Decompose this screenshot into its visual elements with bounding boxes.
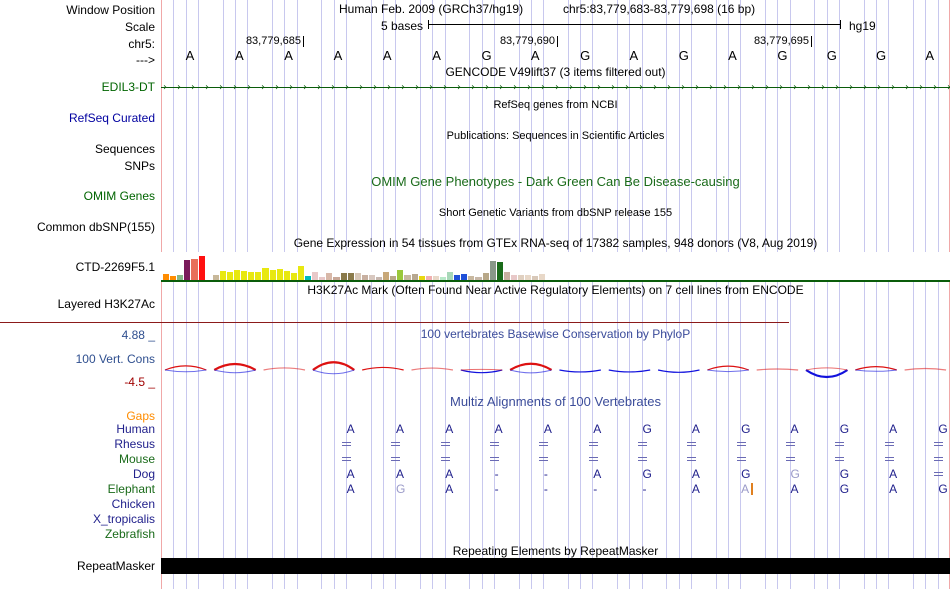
gtex-tissue-bar[interactable] [376, 277, 382, 280]
gtex-tissue-bar[interactable] [291, 273, 297, 280]
gene-strand-arrow-icon: › [891, 83, 895, 92]
phylop-base-arc [461, 370, 502, 373]
alignment-match-mark [737, 442, 746, 447]
gene-strand-arrow-icon: › [471, 83, 475, 92]
phylop-base-arc [757, 369, 798, 370]
phylop-base-arc-mirror [461, 369, 502, 370]
phylop-base-arc [806, 370, 847, 377]
phylop-base-arc [313, 362, 354, 370]
label-scale: Scale [125, 21, 155, 33]
gene-strand-arrow-icon: › [415, 83, 419, 92]
gene-strand-arrow-icon: › [751, 83, 755, 92]
gene-strand-arrow-icon: › [765, 83, 769, 92]
gtex-tissue-bar[interactable] [284, 271, 290, 280]
gtex-tissue-bar[interactable] [262, 268, 268, 280]
gtex-tissue-bar[interactable] [355, 273, 361, 280]
gtex-tissue-bar[interactable] [270, 270, 276, 280]
alignment-match-mark [638, 457, 647, 462]
alignment-row-zebrafish[interactable] [322, 527, 950, 542]
alignment-match-mark [638, 442, 647, 447]
track-title-publications[interactable]: Publications: Sequences in Scientific Ar… [161, 130, 950, 142]
species-label-human[interactable]: Human [116, 423, 155, 435]
gene-strand-arrow-icon: › [653, 83, 657, 92]
alignment-match-mark [441, 457, 450, 462]
species-label-x_tropicalis[interactable]: X_tropicalis [93, 513, 155, 525]
gene-strand-arrow-icon: › [289, 83, 293, 92]
gene-strand-arrow-icon: › [793, 83, 797, 92]
track-label-column: Window Position Scale chr5: ---> EDIL3-D… [0, 0, 155, 589]
gene-strand-arrow-icon: › [373, 83, 377, 92]
gtex-tissue-bar[interactable] [511, 275, 517, 280]
assembly-name: Human Feb. 2009 (GRCh37/hg19) [339, 2, 523, 16]
gene-strand-arrow-icon: › [779, 83, 783, 92]
gtex-tissue-bar[interactable] [419, 276, 425, 280]
alignment-match-mark [786, 457, 795, 462]
gene-strand-arrow-icon: › [527, 83, 531, 92]
gtex-tissue-bar[interactable] [341, 273, 347, 280]
alignment-row-chicken[interactable] [322, 497, 950, 512]
alignment-match-mark [441, 442, 450, 447]
phylop-base-arc-mirror [707, 370, 748, 372]
label-gaps: Gaps [126, 410, 155, 422]
gene-strand-arrow-icon: › [303, 83, 307, 92]
alignment-match-mark [342, 442, 351, 447]
alignment-match-mark [490, 457, 499, 462]
phylop-base-arc [165, 366, 206, 370]
gtex-tissue-bar[interactable] [518, 275, 524, 280]
gtex-tissue-bar[interactable] [454, 275, 460, 280]
alignment-match-mark [391, 457, 400, 462]
gene-strand-arrow-icon: › [933, 83, 937, 92]
alignment-match-mark [934, 457, 943, 462]
scale-bar-row: 5 bases hg19 [161, 19, 950, 33]
gtex-tissue-bar[interactable] [170, 276, 176, 280]
alignment-match-mark [687, 457, 696, 462]
label-100-vert-cons[interactable]: 100 Vert. Cons [76, 353, 155, 365]
alignment-match-mark [835, 457, 844, 462]
gene-strand-arrow-icon: › [695, 83, 699, 92]
gene-strand-arrow-icon: › [275, 83, 279, 92]
gtex-tissue-bar[interactable] [319, 277, 325, 280]
coordinate-label: 83,779,690 [500, 35, 555, 47]
gene-strand-arrow-icon: › [317, 83, 321, 92]
phylop-conservation-plot[interactable] [161, 340, 950, 390]
label-cons-max: 4.88 _ [122, 329, 155, 341]
alignment-match-mark [737, 457, 746, 462]
gene-strand-arrow-icon: › [499, 83, 503, 92]
gene-strand-arrow-icon: › [667, 83, 671, 92]
gene-strand-arrow-icon: › [233, 83, 237, 92]
alignment-row-mouse[interactable] [322, 452, 950, 467]
gene-strand-arrow-icon: › [513, 83, 517, 92]
gtex-tissue-bar[interactable] [220, 271, 226, 280]
gene-strand-arrow-icon: › [443, 83, 447, 92]
gene-strand-arrow-icon: › [905, 83, 909, 92]
gene-strand-arrow-icon: › [429, 83, 433, 92]
gtex-tissue-bar[interactable] [184, 260, 190, 280]
gene-strand-arrow-icon: › [387, 83, 391, 92]
track-title-omim[interactable]: OMIM Gene Phenotypes - Dark Green Can Be… [161, 176, 950, 188]
gtex-tissue-bar[interactable] [241, 271, 247, 280]
gene-strand-arrow-icon: › [877, 83, 881, 92]
window-position-bar: Human Feb. 2009 (GRCh37/hg19) chr5:83,77… [161, 2, 950, 16]
alignment-insert-marker [751, 483, 753, 495]
gene-strand-arrow-icon: › [625, 83, 629, 92]
gtex-tissue-bar[interactable] [483, 273, 489, 280]
gtex-tissue-bar[interactable] [191, 259, 197, 280]
phylop-base-arc-mirror [510, 370, 551, 373]
gencode-gene-track[interactable]: ››››››››››››››››››››››››››››››››››››››››… [161, 82, 950, 93]
phylop-base-arc [905, 368, 946, 370]
species-label-zebrafish[interactable]: Zebrafish [105, 528, 155, 540]
track-title-h3k27ac[interactable]: H3K27Ac Mark (Often Found Near Active Re… [161, 284, 950, 296]
gtex-tissue-bar[interactable] [333, 277, 339, 280]
gtex-tissue-bar[interactable] [390, 276, 396, 280]
gene-strand-arrow-icon: › [681, 83, 685, 92]
gene-strand-arrow-icon: › [219, 83, 223, 92]
gtex-tissue-bar[interactable] [277, 269, 283, 280]
label-sequences[interactable]: Sequences [95, 143, 155, 155]
gtex-tissue-bar[interactable] [539, 274, 545, 280]
species-label-elephant[interactable]: Elephant [108, 483, 155, 495]
label-common-dbsnp[interactable]: Common dbSNP(155) [37, 221, 155, 233]
scale-ruler [428, 20, 841, 29]
coordinate-tick [303, 36, 304, 47]
gene-strand-arrow-icon: › [163, 83, 167, 92]
alignment-match-mark [885, 457, 894, 462]
ucsc-genome-browser: Window Position Scale chr5: ---> EDIL3-D… [0, 0, 950, 589]
gene-strand-arrow-icon: › [485, 83, 489, 92]
gtex-tissue-bar[interactable] [298, 266, 304, 280]
phylop-base-arc-mirror [165, 370, 206, 372]
conservation-top-rule [0, 322, 789, 323]
gtex-tissue-bar[interactable] [305, 276, 311, 280]
gtex-tissue-bar[interactable] [362, 275, 368, 280]
gene-strand-arrow-icon: › [737, 83, 741, 92]
gtex-tissue-bar[interactable] [525, 275, 531, 280]
gtex-tissue-bar[interactable] [248, 272, 254, 280]
alignment-row-dog[interactable]: AAA--AGAGGGAAA [322, 467, 950, 482]
label-gtex-gene[interactable]: CTD-2269F5.1 [76, 261, 155, 273]
gtex-tissue-bar[interactable] [497, 262, 503, 280]
phylop-base-arc-mirror [855, 370, 896, 371]
gtex-tissue-bar[interactable] [490, 261, 496, 280]
track-title-repeatmasker[interactable]: Repeating Elements by RepeatMasker [161, 545, 950, 557]
species-label-chicken[interactable]: Chicken [112, 498, 155, 510]
gtex-tissue-bar[interactable] [447, 272, 453, 280]
alignment-match-mark [885, 442, 894, 447]
gene-strand-arrow-icon: › [177, 83, 181, 92]
gtex-tissue-bar[interactable] [383, 272, 389, 280]
alignment-match-mark [934, 472, 943, 477]
gtex-tissue-bar[interactable] [312, 272, 318, 280]
coordinate-tick [557, 36, 558, 47]
gtex-tissue-bar[interactable] [412, 274, 418, 280]
phylop-base-arc-mirror [214, 370, 255, 373]
gene-strand-arrow-icon: › [919, 83, 923, 92]
gene-strand-arrow-icon: › [597, 83, 601, 92]
scale-assembly-label: hg19 [849, 19, 876, 33]
phylop-base-arc [510, 364, 551, 370]
gtex-tissue-bar[interactable] [227, 272, 233, 280]
label-window-position: Window Position [66, 4, 155, 16]
gtex-tissue-bar[interactable] [326, 273, 332, 280]
gene-strand-arrow-icon: › [541, 83, 545, 92]
gene-strand-arrow-icon: › [331, 83, 335, 92]
gtex-tissue-bar[interactable] [475, 277, 481, 280]
label-snps[interactable]: SNPs [124, 160, 155, 172]
gtex-tissue-bar[interactable] [504, 272, 510, 280]
alignment-match-mark [934, 442, 943, 447]
gene-strand-arrow-icon: › [723, 83, 727, 92]
alignment-row-elephant[interactable]: AGA----AAAGAGGAA [322, 482, 950, 497]
gtex-tissue-bar[interactable] [426, 276, 432, 280]
phylop-base-arc [658, 370, 699, 372]
track-title-gtex[interactable]: Gene Expression in 54 tissues from GTEx … [161, 237, 950, 249]
gene-strand-arrow-icon: › [345, 83, 349, 92]
gene-strand-arrow-icon: › [555, 83, 559, 92]
gtex-tissue-bar[interactable] [369, 275, 375, 280]
alignment-match-mark [589, 442, 598, 447]
alignment-match-mark [490, 442, 499, 447]
alignment-match-mark [539, 457, 548, 462]
gene-strand-arrow-icon: › [457, 83, 461, 92]
gene-strand-arrow-icon: › [821, 83, 825, 92]
label-omim-genes[interactable]: OMIM Genes [84, 190, 155, 202]
phylop-base-arc [412, 368, 453, 370]
gtex-tissue-bar[interactable] [177, 275, 183, 280]
phylop-base-arc [362, 367, 403, 370]
alignment-match-mark [687, 442, 696, 447]
gtex-tissue-bar[interactable] [234, 270, 240, 280]
gtex-tissue-bar[interactable] [433, 276, 439, 280]
gtex-tissue-bar[interactable] [468, 276, 474, 280]
alignment-row-human[interactable]: AAAAAAGAGAGAGGGA [322, 422, 950, 437]
phylop-base-arc-mirror [313, 370, 354, 374]
alignment-match-mark [342, 457, 351, 462]
gtex-tissue-bar[interactable] [255, 272, 261, 280]
label-strand-arrow: ---> [136, 54, 155, 66]
multiz-alignment-block[interactable]: AAAAAAGAGAGAGGGAAAA--AGAGGGAAAAGA----AAA… [161, 422, 950, 542]
alignment-match-mark [835, 442, 844, 447]
gene-strand-arrow-icon: › [205, 83, 209, 92]
repeatmasker-bar[interactable] [161, 558, 950, 574]
gtex-tissue-bar[interactable] [348, 273, 354, 280]
gtex-tissue-bar[interactable] [532, 276, 538, 280]
position-range: chr5:83,779,683-83,779,698 (16 bp) [563, 2, 755, 16]
alignment-row-x_tropicalis[interactable] [322, 512, 950, 527]
gene-strand-arrow-icon: › [191, 83, 195, 92]
gene-strand-arrow-icon: › [835, 83, 839, 92]
gene-strand-arrow-icon: › [709, 83, 713, 92]
gtex-tissue-bar[interactable] [404, 275, 410, 280]
phylop-base-arc [264, 368, 305, 370]
gene-strand-arrow-icon: › [639, 83, 643, 92]
gtex-tissue-bar[interactable] [461, 274, 467, 280]
alignment-match-mark [539, 442, 548, 447]
gene-strand-arrow-icon: › [569, 83, 573, 92]
phylop-base-arc [559, 370, 600, 372]
gene-strand-arrow-icon: › [863, 83, 867, 92]
gene-strand-arrow-icon: › [359, 83, 363, 92]
alignment-match-mark [786, 442, 795, 447]
species-label-dog[interactable]: Dog [133, 468, 155, 480]
track-title-dbsnp[interactable]: Short Genetic Variants from dbSNP releas… [161, 207, 950, 219]
gene-strand-arrow-icon: › [261, 83, 265, 92]
label-repeatmasker[interactable]: RepeatMasker [77, 560, 155, 572]
gtex-tissue-bar[interactable] [199, 256, 205, 280]
label-cons-min: -4.5 _ [124, 376, 155, 388]
coordinate-label: 83,779,695 [754, 35, 809, 47]
track-title-phylop[interactable]: 100 vertebrates Basewise Conservation by… [161, 328, 950, 340]
gene-strand-arrow-icon: › [849, 83, 853, 92]
track-title-gencode[interactable]: GENCODE V49lift37 (3 items filtered out) [161, 66, 950, 78]
gtex-tissue-bar[interactable] [163, 274, 169, 280]
coordinate-label: 83,779,685 [246, 35, 301, 47]
reference-sequence-row: AAAAAAGAGAGAGGGA [161, 48, 950, 63]
label-refseq-curated[interactable]: RefSeq Curated [69, 112, 155, 124]
gene-strand-arrow-icon: › [583, 83, 587, 92]
gtex-tissue-bar[interactable] [397, 270, 403, 280]
gene-strand-arrow-icon: › [611, 83, 615, 92]
scale-size-label: 5 bases [381, 19, 423, 33]
phylop-base-arc [214, 364, 255, 370]
gtex-tissue-bar[interactable] [440, 277, 446, 280]
species-label-mouse[interactable]: Mouse [119, 453, 155, 465]
coordinate-tick [811, 36, 812, 47]
alignment-match-mark [589, 457, 598, 462]
track-title-refseq[interactable]: RefSeq genes from NCBI [161, 99, 950, 111]
alignment-match-mark [391, 442, 400, 447]
phylop-base-arc-mirror [806, 368, 847, 370]
phylop-base-arc [855, 367, 896, 370]
gene-strand-arrow-icon: › [807, 83, 811, 92]
gtex-tissue-bar[interactable] [213, 275, 219, 280]
label-gencode-gene[interactable]: EDIL3-DT [102, 81, 155, 93]
phylop-base-arc [707, 366, 748, 370]
track-title-multiz[interactable]: Multiz Alignments of 100 Vertebrates [161, 396, 950, 408]
gene-strand-arrow-icon: › [401, 83, 405, 92]
phylop-base-arc [609, 370, 650, 372]
species-label-rhesus[interactable]: Rhesus [114, 438, 155, 450]
gtex-baseline [161, 280, 950, 282]
phylop-curve [161, 340, 950, 390]
label-layered-h3k27ac[interactable]: Layered H3K27Ac [58, 298, 155, 310]
alignment-row-rhesus[interactable] [322, 437, 950, 452]
gene-strand-arrow-icon: › [247, 83, 251, 92]
gtex-expression-barchart[interactable] [161, 252, 950, 282]
